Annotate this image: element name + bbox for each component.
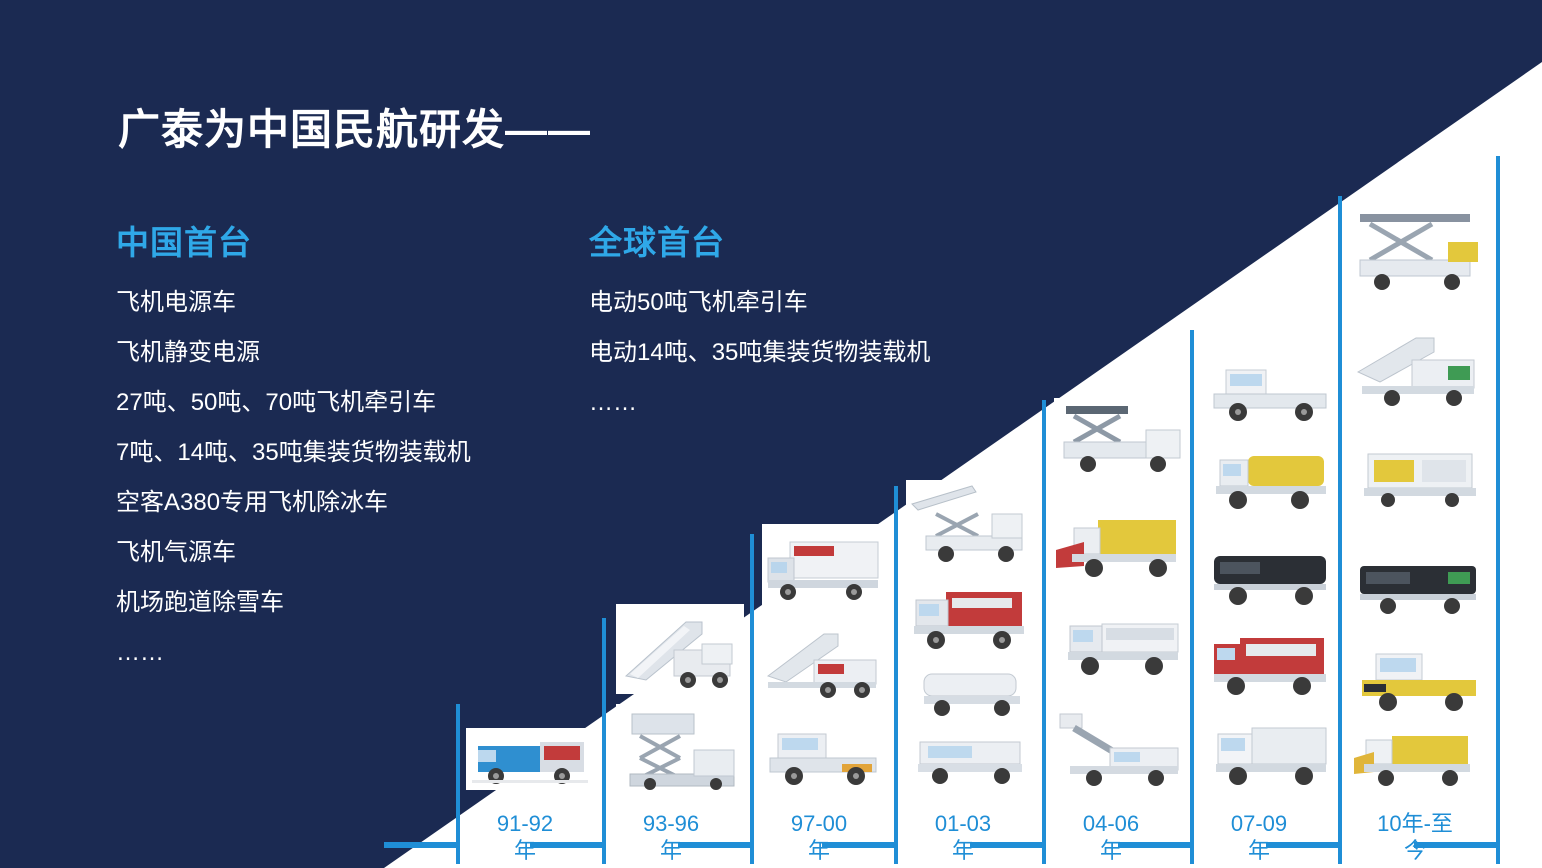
tick-horizontal-line — [384, 842, 458, 848]
timeline-label: 91-92 年 — [470, 810, 580, 864]
tick-vertical-line-end — [1496, 156, 1500, 864]
tick-vertical-line — [1190, 330, 1194, 864]
tick-horizontal-line — [1118, 842, 1190, 848]
tick-vertical-line — [602, 618, 606, 864]
tick-horizontal-line — [530, 842, 602, 848]
tick-vertical-line — [1338, 196, 1342, 864]
timeline-label: 07-09 年 — [1204, 810, 1314, 864]
tick-vertical-line — [750, 534, 754, 864]
tick-vertical-line — [456, 704, 460, 864]
tick-vertical-line — [1042, 400, 1046, 864]
timeline-label: 01-03 年 — [908, 810, 1018, 864]
tick-horizontal-line — [822, 842, 894, 848]
tick-horizontal-line — [678, 842, 750, 848]
timeline-label: 97-00 年 — [764, 810, 874, 864]
timeline-label: 10年-至 今 — [1360, 810, 1470, 864]
presentation-slide: 广泰为中国民航研发—— 中国首台 飞机电源车 飞机静变电源 27吨、50吨、70… — [0, 0, 1542, 868]
tick-horizontal-line — [970, 842, 1042, 848]
tick-horizontal-line — [1266, 842, 1338, 848]
timeline-label: 04-06 年 — [1056, 810, 1166, 864]
timeline-label: 93-96 年 — [616, 810, 726, 864]
tick-vertical-line — [894, 486, 898, 864]
timeline-axis: 91-92 年 93-96 年 97-00 年 01-03 — [0, 0, 1542, 868]
